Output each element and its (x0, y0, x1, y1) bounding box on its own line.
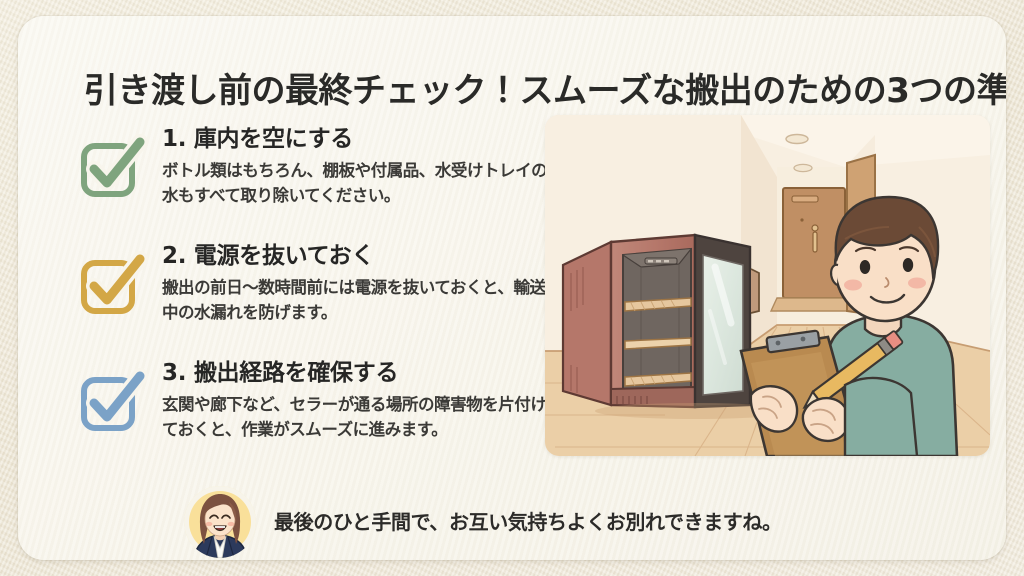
checkbox-checked-icon (80, 372, 142, 434)
footer-message: 最後のひと手間で、お互い気持ちよくお別れできますね。 (274, 508, 782, 536)
checklist-item-1-body: ボトル類はもちろん、棚板や付属品、水受けトレイの水もすべて取り除いてください。 (162, 158, 556, 208)
checkbox-checked-icon (80, 138, 142, 200)
checklist-item-3-body: 玄関や廊下など、セラーが通る場所の障害物を片付けておくと、作業がスムーズに進みま… (162, 392, 556, 442)
content-card: 引き渡し前の最終チェック！スムーズな搬出のための3つの準備 1. 庫内を空にする… (18, 16, 1006, 560)
checklist-item-3: 3. 搬出経路を確保する 玄関や廊下など、セラーが通る場所の障害物を片付けておく… (66, 358, 556, 466)
slide-canvas: 引き渡し前の最終チェック！スムーズな搬出のための3つの準備 1. 庫内を空にする… (0, 0, 1024, 576)
checklist-item-1-heading: 1. 庫内を空にする (162, 124, 556, 155)
page-title: 引き渡し前の最終チェック！スムーズな搬出のための3つの準備 (84, 69, 984, 113)
checklist-item-3-heading: 3. 搬出経路を確保する (162, 358, 556, 389)
woman-avatar-icon (184, 486, 256, 558)
checklist-item-2-body: 搬出の前日〜数時間前には電源を抜いておくと、輸送中の水漏れを防げます。 (162, 275, 556, 325)
checklist-item-1: 1. 庫内を空にする ボトル類はもちろん、棚板や付属品、水受けトレイの水もすべて… (66, 124, 556, 232)
wine-cellar-inspection-illustration (545, 115, 990, 456)
checklist: 1. 庫内を空にする ボトル類はもちろん、棚板や付属品、水受けトレイの水もすべて… (66, 124, 556, 466)
checkbox-checked-icon (80, 255, 142, 317)
footer-note: 最後のひと手間で、お互い気持ちよくお別れできますね。 (184, 486, 782, 558)
checklist-item-2: 2. 電源を抜いておく 搬出の前日〜数時間前には電源を抜いておくと、輸送中の水漏… (66, 241, 556, 349)
checklist-item-2-heading: 2. 電源を抜いておく (162, 241, 556, 272)
